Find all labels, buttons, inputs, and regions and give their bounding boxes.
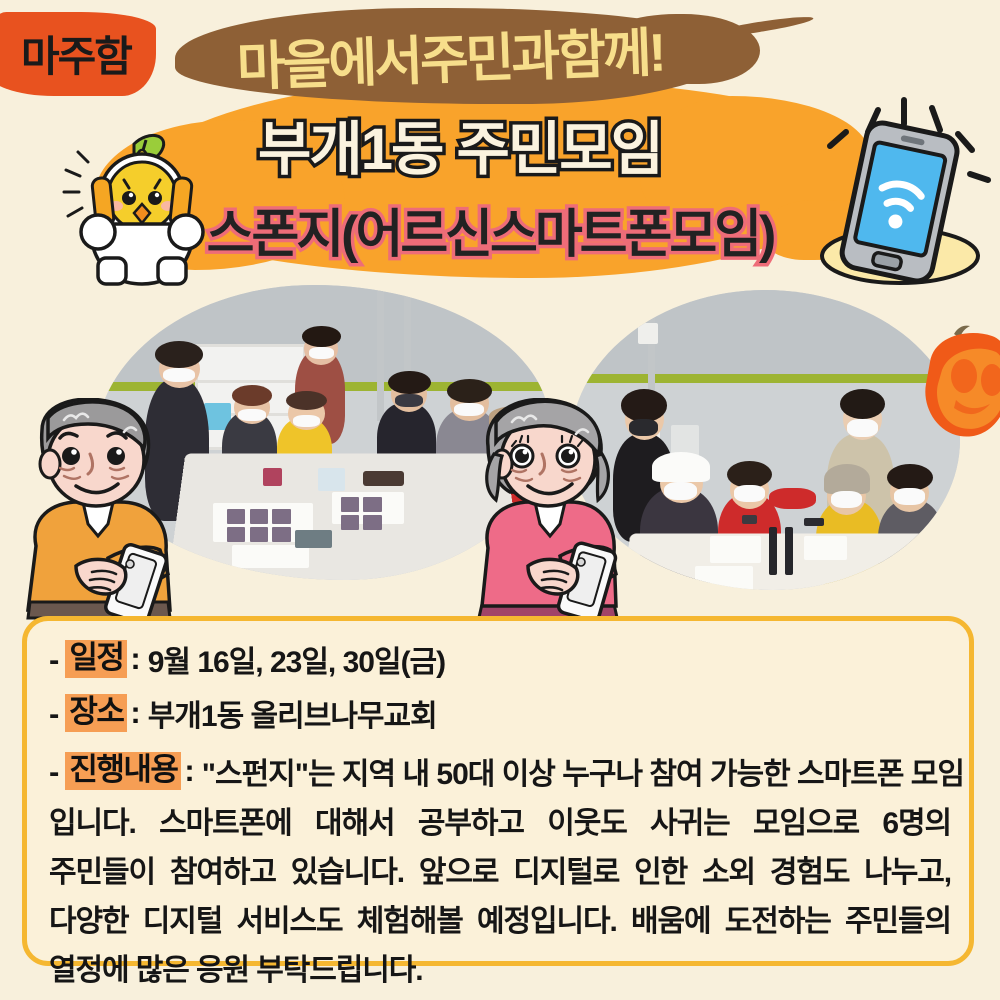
info-row-schedule: - 일정 : 9월 16일, 23일, 30일(금) [49, 637, 951, 681]
bullet-dash: - [49, 756, 59, 787]
grandma-character [458, 398, 638, 623]
label-schedule: 일정 [65, 640, 127, 679]
grandpa-character [8, 398, 188, 620]
bullet-dash: - [49, 644, 59, 675]
brand-badge: 마주함 [0, 22, 152, 84]
bullet-dash: - [49, 698, 59, 729]
description-paragraph: 입니다. 스마트폰에 대해서 공부하고 이웃도 사귀는 모임으로 6명의 주민들… [49, 799, 951, 995]
colon-place: : [130, 695, 140, 731]
colon-schedule: : [130, 641, 140, 677]
value-place: 부개1동 올리브나무교회 [148, 691, 437, 735]
label-content: 진행내용 [65, 752, 181, 791]
label-place: 장소 [65, 694, 127, 733]
info-row-content: - 진행내용 : "스펀지"는 지역 내 50대 이상 누구나 참여 가능한 스… [49, 749, 951, 793]
colon-content: : [184, 753, 194, 789]
pear-bird-mascot-icon [62, 118, 222, 293]
info-box: - 일정 : 9월 16일, 23일, 30일(금) - 장소 : 부개1동 올… [22, 616, 974, 966]
smartphone-wifi-icon [800, 88, 1000, 293]
page-subtitle: 스폰지(어르신스마트폰모임) [170, 194, 810, 264]
pumpkin-icon [912, 318, 1000, 463]
page-title: 부개1동 주민모임 [180, 104, 740, 184]
value-content: "스펀지"는 지역 내 50대 이상 누구나 참여 가능한 스마트폰 모임 [202, 749, 964, 793]
info-row-place: - 장소 : 부개1동 올리브나무교회 [49, 691, 951, 735]
value-schedule: 9월 16일, 23일, 30일(금) [148, 637, 445, 681]
poster-header: 마을에서주민과함께! 마주함 부개1동 주민모임 스폰지(어르신스마트폰모임) [0, 0, 1000, 290]
poster-root: 마을에서주민과함께! 마주함 부개1동 주민모임 스폰지(어르신스마트폰모임) [0, 0, 1000, 1000]
